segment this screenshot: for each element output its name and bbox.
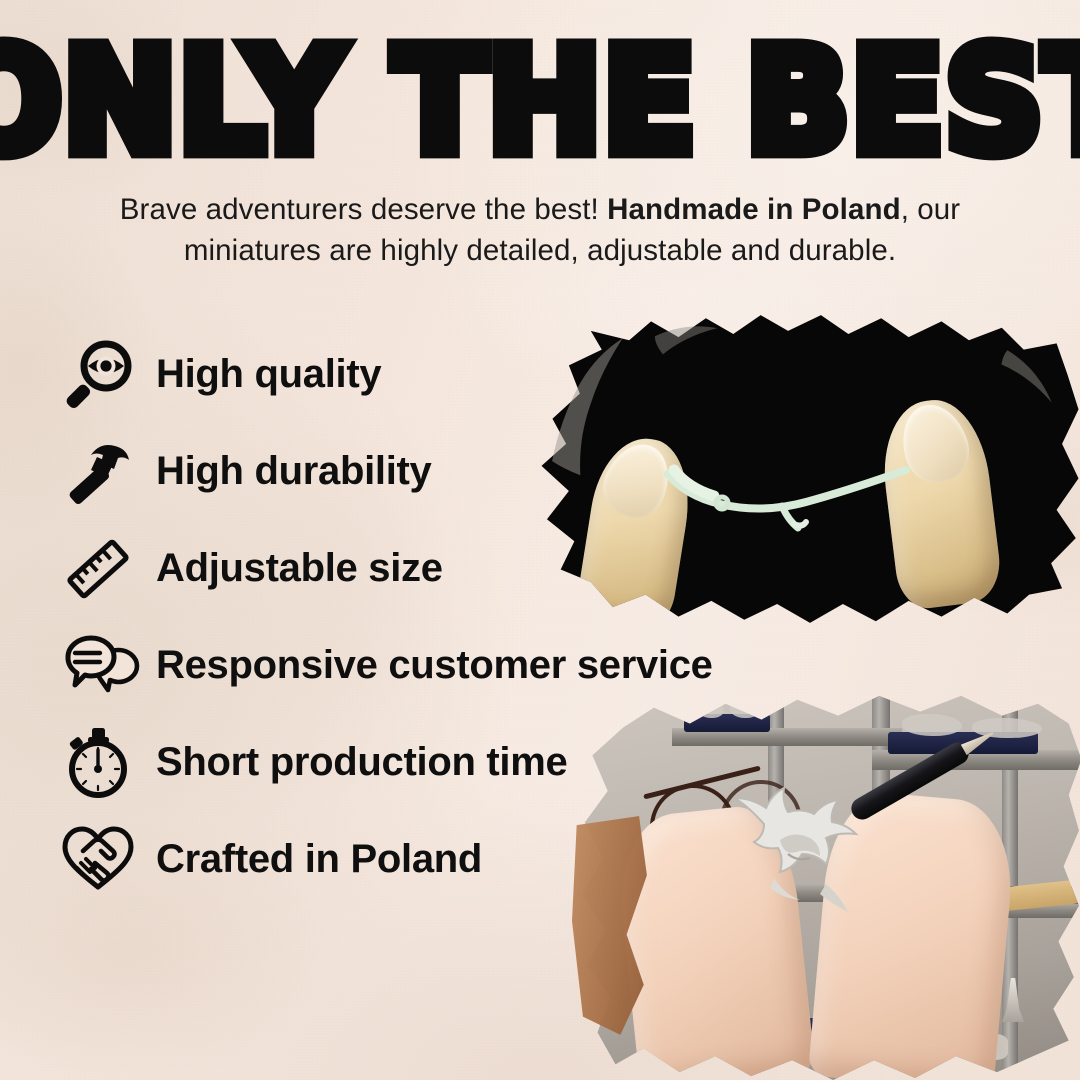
- heart-handshake-icon: [58, 824, 138, 896]
- headline-container: ONLY THE BEST: [0, 36, 1080, 150]
- flexible-part-shape: [664, 462, 912, 532]
- feature-label: High durability: [156, 449, 432, 494]
- stopwatch-icon: [58, 727, 138, 799]
- subtitle: Brave adventurers deserve the best! Hand…: [0, 190, 1080, 271]
- feature-label: High quality: [156, 352, 381, 397]
- subtitle-text-lead: Brave adventurers deserve the best!: [120, 193, 607, 226]
- speech-bubbles-icon: [58, 630, 138, 702]
- feature-label: Adjustable size: [156, 546, 443, 591]
- flexible-miniature-photo: [536, 312, 1080, 626]
- feature-label: Responsive customer service: [156, 643, 713, 688]
- page-title: ONLY THE BEST: [0, 36, 1080, 168]
- promo-poster: ONLY THE BEST Brave adventurers deserve …: [0, 0, 1080, 1080]
- subtitle-text-emphasis: Handmade in Poland: [607, 193, 901, 226]
- hammer-icon: [58, 436, 138, 508]
- ruler-icon: [58, 533, 138, 605]
- workshop-crafting-photo: [572, 688, 1080, 1080]
- feature-label: Crafted in Poland: [156, 837, 482, 882]
- magnifier-eye-icon: [58, 339, 138, 411]
- feature-label: Short production time: [156, 740, 567, 785]
